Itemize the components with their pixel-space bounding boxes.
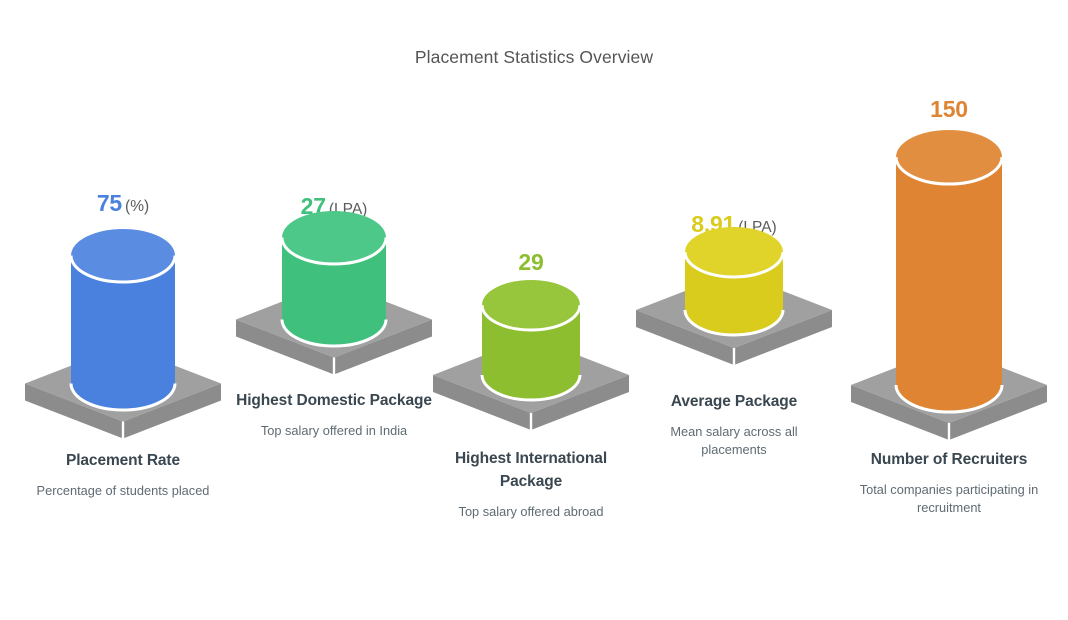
stat-card-4[interactable]: 8.91(LPA) Average PackageMean salary acr… <box>627 0 841 620</box>
stat-description: Percentage of students placed <box>16 482 230 500</box>
stats-row: 75(%) Placement RatePercentage of studen… <box>0 0 1068 620</box>
stat-text-block: Highest International PackageTop salary … <box>424 448 638 521</box>
stat-title: Number of Recruiters <box>842 449 1056 472</box>
stat-title: Highest International Package <box>424 448 638 494</box>
cylinder-body <box>896 157 1002 412</box>
stat-card-5[interactable]: 150 Number of RecruitersTotal companies … <box>842 0 1056 620</box>
stat-value-label: 150 <box>842 98 1056 121</box>
stat-value-number: 150 <box>930 96 968 122</box>
stat-text-block: Average PackageMean salary across all pl… <box>627 391 841 459</box>
stat-text-block: Number of RecruitersTotal companies part… <box>842 449 1056 517</box>
stat-description: Top salary offered abroad <box>424 503 638 521</box>
stat-figure <box>842 120 1056 454</box>
stat-figure <box>227 201 441 389</box>
stat-title: Average Package <box>627 391 841 414</box>
stat-figure <box>627 217 841 379</box>
stat-description: Mean salary across all placements <box>627 423 841 459</box>
stat-card-2[interactable]: 27(LPA) Highest Domestic PackageTop sala… <box>227 0 441 620</box>
stat-text-block: Placement RatePercentage of students pla… <box>16 450 230 500</box>
stat-value-number: 75 <box>97 190 122 216</box>
stat-value-unit: (%) <box>125 198 149 215</box>
stat-figure <box>424 270 638 444</box>
stat-description: Total companies participating in recruit… <box>842 481 1056 517</box>
stat-text-block: Highest Domestic PackageTop salary offer… <box>227 390 441 440</box>
stat-value-label: 75(%) <box>16 192 230 215</box>
stat-description: Top salary offered in India <box>227 422 441 440</box>
stat-title: Highest Domestic Package <box>227 390 441 413</box>
stat-figure <box>16 219 230 453</box>
stat-title: Placement Rate <box>16 450 230 473</box>
stat-card-3[interactable]: 29 Highest International PackageTop sala… <box>424 0 638 620</box>
stat-card-1[interactable]: 75(%) Placement RatePercentage of studen… <box>16 0 230 620</box>
